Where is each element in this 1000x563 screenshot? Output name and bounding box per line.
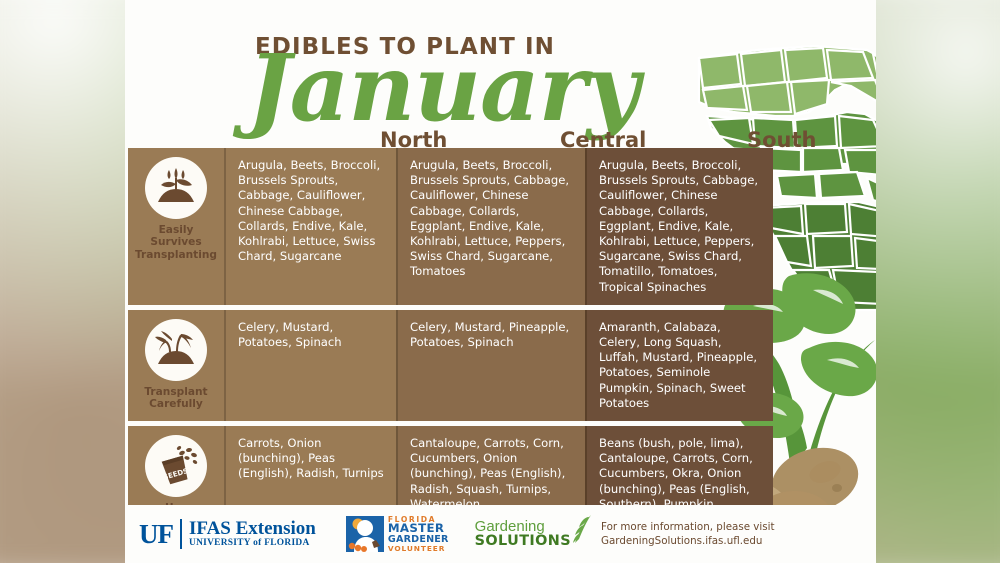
cell-central-easily-survives: Arugula, Beets, Broccoli, Brussels Sprou… bbox=[396, 148, 585, 305]
more-information-text: For more information, please visit Garde… bbox=[601, 520, 775, 548]
florida-master-gardener-volunteer-logo: FLORIDA MASTER GARDENER VOLUNTEER bbox=[346, 516, 449, 552]
table-row: Easily Survives Transplanting Arugula, B… bbox=[128, 148, 773, 305]
caption-line: Transplanting bbox=[135, 249, 217, 261]
planting-table: Easily Survives Transplanting Arugula, B… bbox=[128, 148, 773, 557]
master-gardener-badge-icon bbox=[346, 516, 384, 552]
caption-line: Transplant bbox=[144, 386, 207, 398]
uf-ifas-extension-logo: UF IFAS Extension UNIVERSITY of FLORIDA bbox=[139, 519, 316, 550]
leaf-icon bbox=[565, 513, 595, 547]
caption-line: Survives bbox=[135, 236, 217, 248]
solutions-label: SOLUTIONS bbox=[475, 534, 571, 548]
page-title: EDIBLES TO PLANT IN bbox=[125, 34, 685, 60]
info-line-2: GardeningSolutions.ifas.ufl.edu bbox=[601, 534, 775, 548]
caption-line: Easily bbox=[135, 224, 217, 236]
table-row: Transplant Carefully Celery, Mustard, Po… bbox=[128, 310, 773, 421]
info-line-1: For more information, please visit bbox=[601, 520, 775, 534]
seed-packet-icon: SEEDS bbox=[145, 435, 207, 497]
wilting-plant-in-soil-icon bbox=[145, 319, 207, 381]
row-caption-transplant-carefully: Transplant Carefully bbox=[144, 386, 207, 411]
caption-line: Carefully bbox=[144, 398, 207, 410]
university-of-florida-label: UNIVERSITY of FLORIDA bbox=[189, 539, 316, 549]
cell-north-easily-survives: Arugula, Beets, Broccoli, Brussels Sprou… bbox=[224, 148, 396, 305]
cell-north-transplant-carefully: Celery, Mustard, Potatoes, Spinach bbox=[224, 310, 396, 421]
uf-wordmark: UF bbox=[139, 519, 173, 550]
logo-divider bbox=[180, 519, 182, 549]
gardening-label: Gardening bbox=[475, 519, 571, 534]
infographic-card: NORTH CENTRAL SOUTH bbox=[125, 0, 876, 563]
cell-central-transplant-carefully: Celery, Mustard, Pineapple, Potatoes, Sp… bbox=[396, 310, 585, 421]
cell-south-transplant-carefully: Amaranth, Calabaza, Celery, Long Squash,… bbox=[585, 310, 773, 421]
row-caption-easily-survives-transplanting: Easily Survives Transplanting bbox=[135, 224, 217, 261]
infographic-screenshot: NORTH CENTRAL SOUTH bbox=[0, 0, 1000, 563]
gardening-solutions-logo: Gardening SOLUTIONS bbox=[475, 519, 571, 548]
row-icon-cell-transplant-carefully: Transplant Carefully bbox=[128, 310, 224, 421]
cell-south-easily-survives: Arugula, Beets, Broccoli, Brussels Sprou… bbox=[585, 148, 773, 305]
row-icon-cell-easily-survives-transplanting: Easily Survives Transplanting bbox=[128, 148, 224, 305]
mg-volunteer-label: VOLUNTEER bbox=[388, 545, 449, 552]
footer: UF IFAS Extension UNIVERSITY of FLORIDA bbox=[125, 505, 876, 563]
ifas-extension-label: IFAS Extension bbox=[189, 519, 316, 539]
seedling-in-soil-icon bbox=[145, 157, 207, 219]
